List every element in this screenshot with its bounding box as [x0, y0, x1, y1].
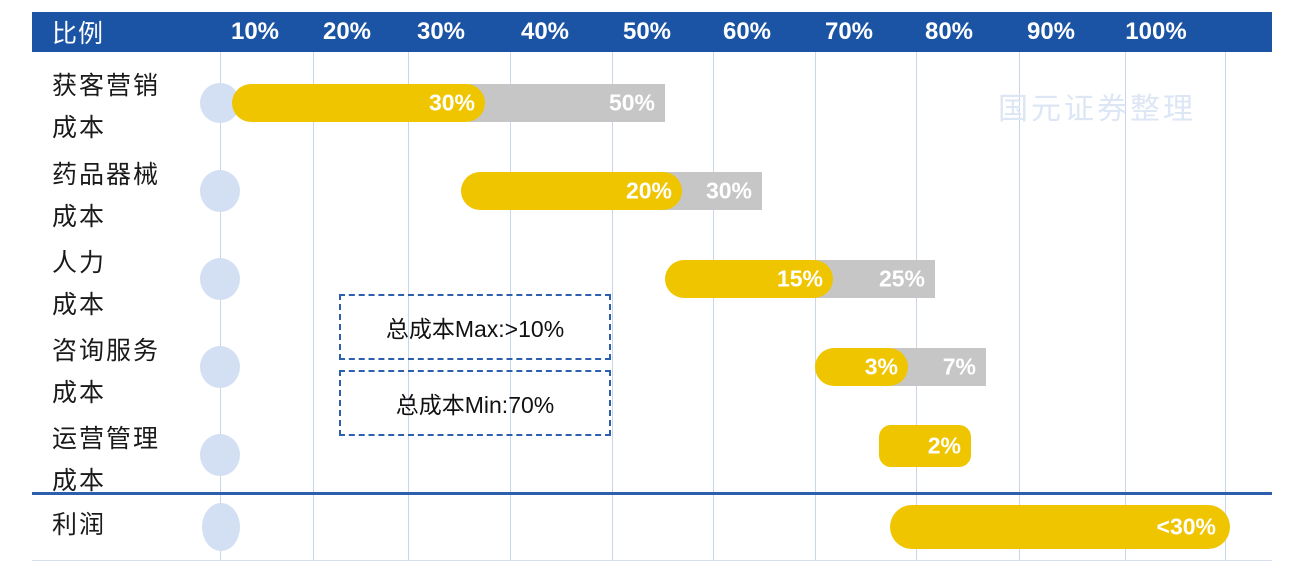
annotation-min-text: 总成本Min:70% — [396, 386, 554, 420]
row-marker-6 — [202, 503, 240, 551]
axis-tick-60: 60% — [723, 18, 771, 46]
annotation-max-text: 总成本Max:>10% — [386, 310, 564, 344]
row-label-acquisition-cost: 获客营销 成本 — [52, 66, 160, 150]
bar-yellow-label-2: 20% — [626, 178, 672, 205]
bar-yellow-label-4: 3% — [865, 354, 898, 381]
gridline-4 — [612, 52, 613, 560]
bar-gray-label-3: 25% — [879, 266, 925, 293]
row-marker-5 — [200, 434, 240, 476]
watermark-text: 国元证券整理 — [998, 84, 1196, 128]
gridline-0 — [220, 52, 221, 560]
gridline-9 — [1125, 52, 1126, 560]
gridline-1 — [313, 52, 314, 560]
bar-yellow-4[interactable]: 3% — [815, 348, 908, 386]
row-label-labor-cost: 人力 成本 — [52, 243, 106, 327]
axis-tick-90: 90% — [1027, 18, 1075, 46]
bar-yellow-2[interactable]: 20% — [461, 172, 682, 210]
bar-yellow-label-6: <30% — [1157, 514, 1216, 541]
row-marker-4 — [200, 346, 240, 388]
gridline-8 — [1019, 52, 1020, 560]
gridline-6 — [815, 52, 816, 560]
bar-gray-label-4: 7% — [943, 354, 976, 381]
bar-yellow-label-3: 15% — [777, 266, 823, 293]
row-marker-2 — [200, 170, 240, 212]
axis-tick-30: 30% — [417, 18, 465, 46]
axis-tick-40: 40% — [521, 18, 569, 46]
bar-yellow-6[interactable]: <30% — [890, 505, 1230, 549]
axis-tick-20: 20% — [323, 18, 371, 46]
bar-yellow-label-1: 30% — [429, 90, 475, 117]
row-label-operations-cost: 运营管理 成本 — [52, 419, 160, 503]
annotation-box-max: 总成本Max:>10% — [339, 294, 611, 360]
axis-tick-10: 10% — [231, 18, 279, 46]
profit-divider — [32, 492, 1272, 495]
row-marker-3 — [200, 258, 240, 300]
bottom-rule — [32, 560, 1272, 561]
axis-header-bar: 比例 10% 20% 30% 40% 50% 60% 70% 80% 90% 1… — [32, 12, 1272, 52]
gridline-5 — [713, 52, 714, 560]
bar-yellow-3[interactable]: 15% — [665, 260, 833, 298]
bar-gray-label-2: 30% — [706, 178, 752, 205]
axis-tick-50: 50% — [623, 18, 671, 46]
row-label-drug-device-cost: 药品器械 成本 — [52, 155, 160, 239]
axis-tick-100: 100% — [1125, 18, 1186, 46]
chart-canvas: 国元证券整理 比例 10% 20% 30% 40% 50% 60% 70% 80… — [0, 0, 1310, 586]
axis-tick-70: 70% — [825, 18, 873, 46]
row-label-profit: 利润 — [52, 505, 106, 547]
bar-yellow-label-5: 2% — [928, 433, 961, 460]
bar-gray-1[interactable]: 50% — [469, 84, 665, 122]
gridline-10 — [1225, 52, 1226, 560]
bar-yellow-1[interactable]: 30% — [232, 84, 485, 122]
bar-yellow-5[interactable]: 2% — [879, 425, 971, 467]
bar-gray-label-1: 50% — [609, 90, 655, 117]
row-label-consulting-cost: 咨询服务 成本 — [52, 331, 160, 415]
gridline-7 — [916, 52, 917, 560]
axis-tick-80: 80% — [925, 18, 973, 46]
annotation-box-min: 总成本Min:70% — [339, 370, 611, 436]
header-title: 比例 — [52, 14, 104, 50]
